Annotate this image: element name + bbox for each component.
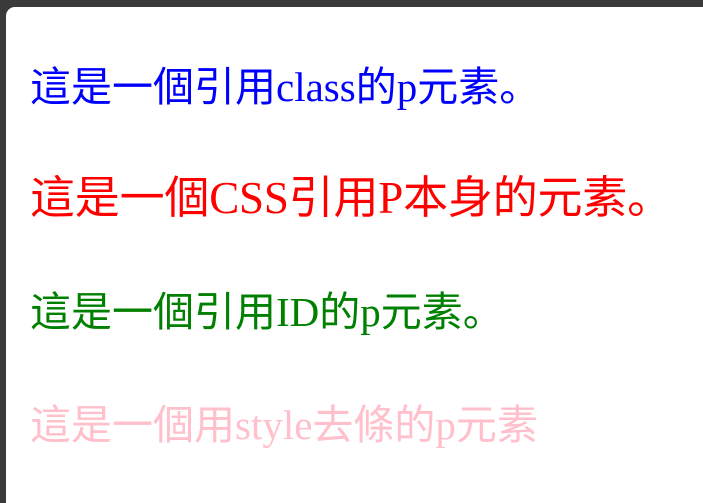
paragraph-list: 這是一個引用class的p元素。 這是一個CSS引用P本身的元素。 這是一個引用… — [30, 15, 703, 503]
paragraph-id-selector: 這是一個引用ID的p元素。 — [30, 241, 703, 354]
browser-viewport: 這是一個引用class的p元素。 這是一個CSS引用P本身的元素。 這是一個引用… — [0, 0, 703, 503]
paragraph-element-selector: 這是一個CSS引用P本身的元素。 — [30, 128, 703, 241]
paragraph-inline-style: 這是一個用style去條的p元素 — [30, 354, 703, 467]
page-canvas: 這是一個引用class的p元素。 這是一個CSS引用P本身的元素。 這是一個引用… — [6, 7, 703, 503]
paragraph-class-selector: 這是一個引用class的p元素。 — [30, 15, 703, 128]
